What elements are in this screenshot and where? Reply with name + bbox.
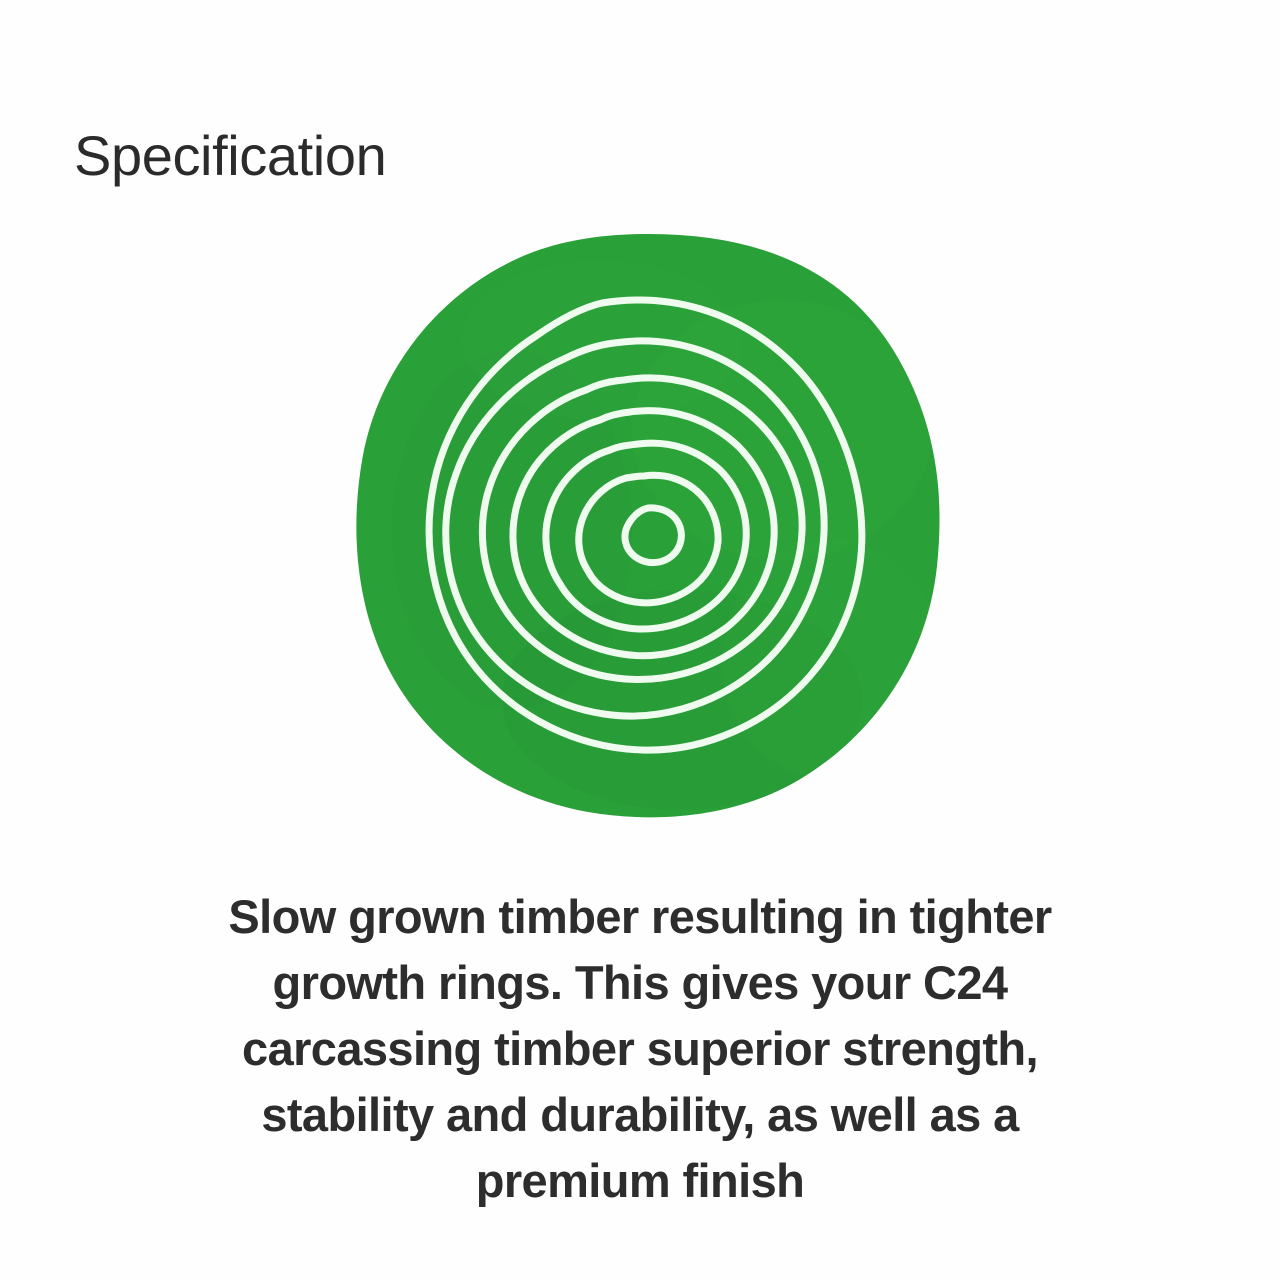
caption-line-1: Slow grown timber resulting in tighter — [140, 884, 1140, 950]
page-title: Specification — [74, 122, 386, 190]
caption-line-5: premium finish — [140, 1148, 1140, 1214]
caption-line-3: carcassing timber superior strength, — [140, 1016, 1140, 1082]
caption-line-2: growth rings. This gives your C24 — [140, 950, 1140, 1016]
tree-growth-rings-icon — [352, 230, 944, 822]
caption-line-4: stability and durability, as well as a — [140, 1082, 1140, 1148]
specification-panel: Specification — [0, 0, 1280, 1280]
specification-description: Slow grown timber resulting in tighter g… — [140, 884, 1140, 1214]
